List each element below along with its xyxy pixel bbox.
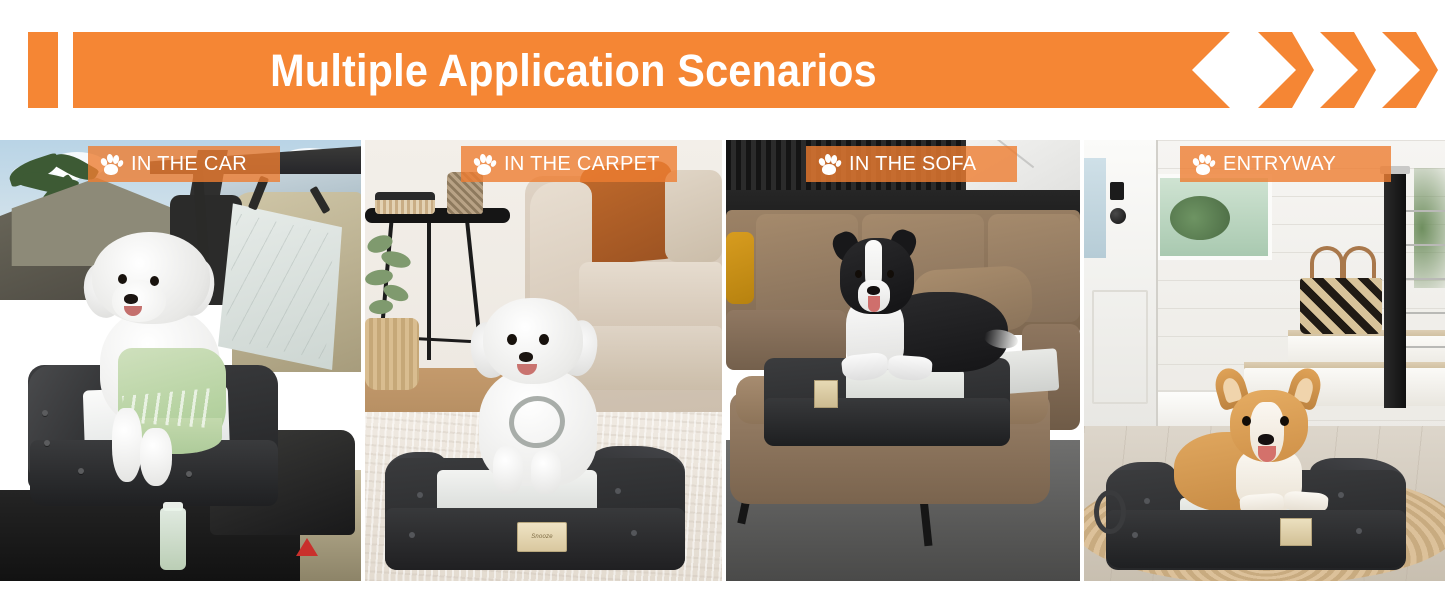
scenario-panel-in-the-carpet[interactable]: Snooze IN THE CARPET [365,140,722,581]
pet-bed-front [1106,510,1406,568]
dog-eye [150,276,159,286]
dog-eye [1280,416,1289,426]
dog-muzzle [112,280,166,322]
bed-stud [1144,498,1150,504]
photo-in-the-car [0,140,361,581]
bed-stud [1338,492,1344,498]
dog-leg [140,428,172,486]
dog-nose [124,294,138,304]
woven-basket [365,318,419,390]
bed-stud [615,488,621,494]
water-bottle [160,508,186,570]
scenario-panel-strip: IN THE CAR [0,140,1445,581]
page-title: Multiple Application Scenarios [270,48,1033,93]
paw-icon [473,153,495,175]
decor-box-weave [377,200,433,214]
chevron-left-icon-1 [1258,32,1314,108]
bed-stud [631,530,637,536]
door-knob [1110,208,1126,224]
chevron-left-icon-3 [1382,32,1438,108]
scenario-panel-in-the-car[interactable]: IN THE CAR [0,140,361,581]
photo-in-the-carpet: Snooze [365,140,722,581]
scenario-badge-in-the-car: IN THE CAR [88,146,280,182]
dog-leg [493,446,523,494]
scenario-badge-entryway: ENTRYWAY [1180,146,1391,182]
chevron-left-icon-2 [1320,32,1376,108]
dog-tongue [868,296,880,312]
header-banner: Multiple Application Scenarios [0,0,1445,140]
brand-tag: Snooze [517,522,567,552]
bed-stud [1132,532,1138,538]
dog-nose [1258,434,1274,445]
scenario-badge-label: IN THE SOFA [849,154,976,174]
bed-stud [417,492,423,498]
photo-in-the-sofa [726,140,1080,581]
stair-cable [1406,210,1445,212]
scenario-badge-label: IN THE CARPET [504,154,660,174]
scenario-panel-in-the-sofa[interactable]: IN THE SOFA [726,140,1080,581]
dog-paw [841,352,889,383]
stair-newel-post [1384,170,1406,408]
dog-bichon-frise [84,232,244,482]
dog-nose [519,352,533,362]
bed-carry-handle [1094,490,1126,534]
dog-eye [1242,416,1251,426]
stair-cable [1406,312,1445,314]
scenario-badge-label: ENTRYWAY [1223,154,1336,174]
dog-eye [539,334,549,345]
paw-icon [100,153,122,175]
bed-stud [44,440,50,446]
dog-corgi [1174,390,1354,520]
stair-cable [1406,278,1445,280]
paw-icon [1192,153,1214,175]
scenario-badge-in-the-carpet: IN THE CARPET [461,146,677,182]
houseplant [1414,168,1445,288]
dog-maltese [469,298,609,493]
dog-eye [855,270,862,278]
dog-paw [887,354,933,381]
dog-eye [887,270,894,278]
tree-outside [1170,196,1230,240]
brand-tag [1280,518,1312,546]
door-panel [1092,290,1148,404]
stair-cable [1406,346,1445,348]
yellow-pillow [726,232,754,304]
banner-accent-tick [28,32,58,108]
pet-bed-front [764,398,1010,446]
scenario-badge-label: IN THE CAR [131,154,247,174]
banner-bar: Multiple Application Scenarios [73,32,1230,108]
brand-tag [814,380,838,408]
scenario-badge-in-the-sofa: IN THE SOFA [806,146,1017,182]
stair-cable [1406,244,1445,246]
dog-eye [507,334,517,345]
dog-eye [118,274,127,284]
photo-entryway [1084,140,1445,581]
bed-stud [42,410,48,416]
bed-stud [1356,528,1362,534]
dog-nose [867,286,880,295]
door-deadbolt [1110,182,1124,200]
patterned-tote-bag [1300,278,1382,334]
dog-border-collie [832,238,1008,384]
dog-leg [112,408,142,482]
scenario-panel-entryway[interactable]: ENTRYWAY [1084,140,1445,581]
warning-triangle [296,538,318,556]
paw-icon [818,153,840,175]
bed-stud [409,532,415,538]
dog-leg [531,450,561,494]
door-sidelight [1084,158,1106,258]
beige-throw-pillow [665,170,722,262]
